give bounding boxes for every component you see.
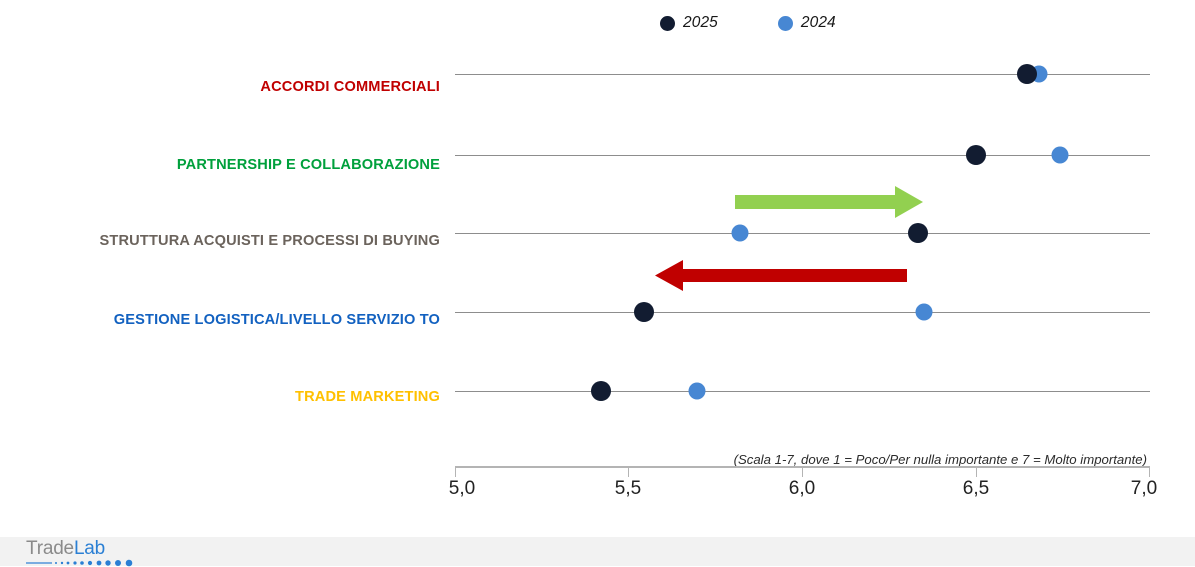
row-baseline xyxy=(455,233,1150,234)
axis-tick-label-6-0: 6,0 xyxy=(789,478,815,500)
data-point-2024-struttura-acquisti[interactable] xyxy=(732,225,749,242)
data-point-2025-trade-marketing[interactable] xyxy=(591,381,611,401)
category-label-struttura-acquisti: STRUTTURA ACQUISTI E PROCESSI DI BUYING xyxy=(100,233,440,249)
data-point-2024-partnership-e-collaborazione[interactable] xyxy=(1052,147,1069,164)
data-point-2025-gestione-logistica[interactable] xyxy=(634,302,654,322)
red-left-arrow-icon xyxy=(655,260,907,291)
data-point-2025-accordi-commerciali[interactable] xyxy=(1017,64,1037,84)
green-right-arrow-icon xyxy=(735,186,925,218)
axis-tick xyxy=(802,468,803,477)
data-point-2025-struttura-acquisti[interactable] xyxy=(908,223,928,243)
category-label-accordi-commerciali: ACCORDI COMMERCIALI xyxy=(260,79,440,95)
row-baseline xyxy=(455,155,1150,156)
tradelab-logo: TradeLab xyxy=(26,539,136,565)
axis-tick-label-5-0: 5,0 xyxy=(449,478,475,500)
axis-tick xyxy=(976,468,977,477)
axis-tick-label-6-5: 6,5 xyxy=(963,478,989,500)
row-baseline xyxy=(455,312,1150,313)
category-label-partnership-e-collaborazione: PARTNERSHIP E COLLABORAZIONE xyxy=(177,157,440,173)
logo-wordmark: TradeLab xyxy=(26,539,136,558)
scale-note: (Scala 1-7, dove 1 = Poco/Per nulla impo… xyxy=(734,452,1147,467)
axis-tick-label-7-0: 7,0 xyxy=(1131,478,1157,500)
x-axis xyxy=(455,466,1150,478)
axis-tick-label-5-5: 5,5 xyxy=(615,478,641,500)
data-point-2024-trade-marketing[interactable] xyxy=(689,383,706,400)
data-point-2025-partnership-e-collaborazione[interactable] xyxy=(966,145,986,165)
axis-tick xyxy=(1149,468,1150,477)
axis-tick xyxy=(628,468,629,477)
logo-text-trade: Trade xyxy=(26,538,74,559)
footer-bar xyxy=(0,537,1195,566)
category-label-trade-marketing: TRADE MARKETING xyxy=(295,389,440,405)
data-point-2024-gestione-logistica[interactable] xyxy=(916,304,933,321)
row-baseline xyxy=(455,391,1150,392)
logo-text-lab: Lab xyxy=(74,538,105,559)
axis-tick xyxy=(455,468,456,477)
chart-plot-area: ACCORDI COMMERCIALI PARTNERSHIP E COLLAB… xyxy=(0,0,1195,510)
category-label-gestione-logistica: GESTIONE LOGISTICA/LIVELLO SERVIZIO TO xyxy=(114,312,440,328)
